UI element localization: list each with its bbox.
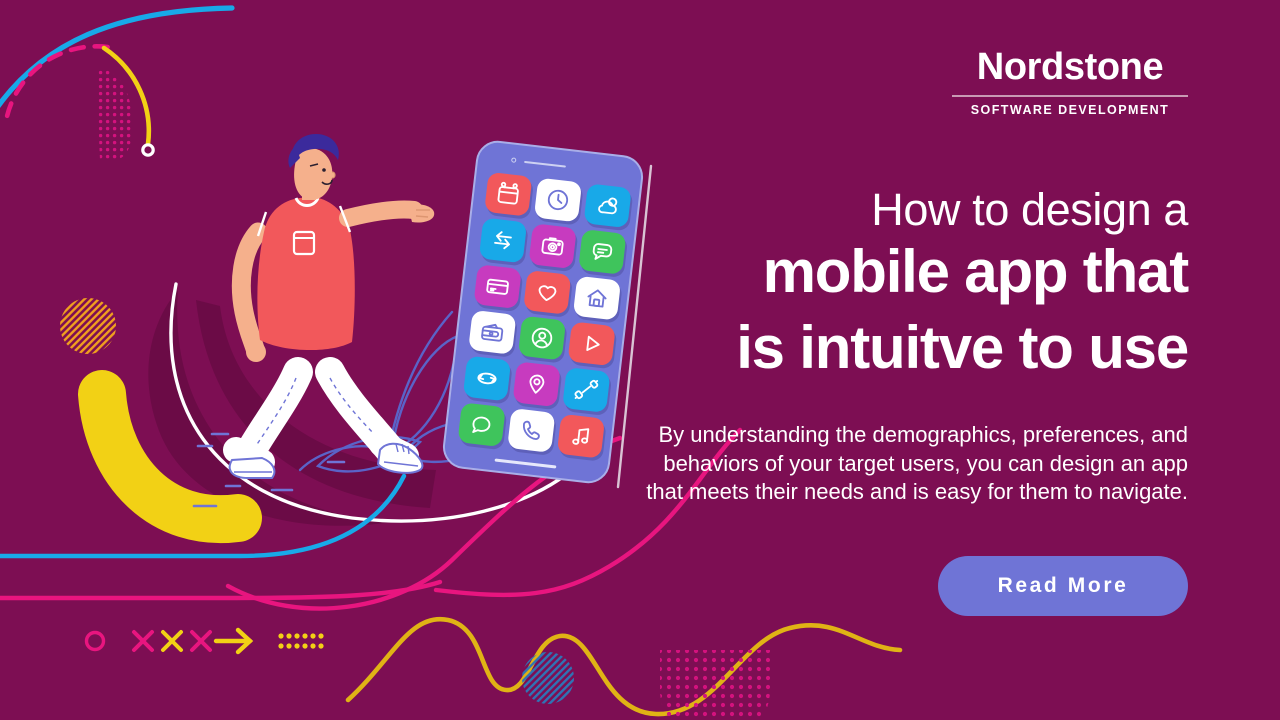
logo-divider bbox=[952, 95, 1188, 97]
read-more-button[interactable]: Read More bbox=[938, 556, 1188, 616]
brand-name: Nordstone bbox=[950, 48, 1190, 88]
copy-block: How to design a mobile app that is intui… bbox=[628, 186, 1188, 507]
headline-line-1: How to design a bbox=[628, 186, 1188, 234]
body-paragraph: By understanding the demographics, prefe… bbox=[628, 421, 1188, 507]
headline-line-3: is intuitve to use bbox=[628, 310, 1188, 387]
promo-banner: Nordstone SOFTWARE DEVELOPMENT How to de… bbox=[0, 0, 1280, 720]
headline-line-2: mobile app that bbox=[628, 234, 1188, 311]
brand-tagline: SOFTWARE DEVELOPMENT bbox=[950, 103, 1190, 117]
brand-logo[interactable]: Nordstone SOFTWARE DEVELOPMENT bbox=[950, 48, 1190, 117]
